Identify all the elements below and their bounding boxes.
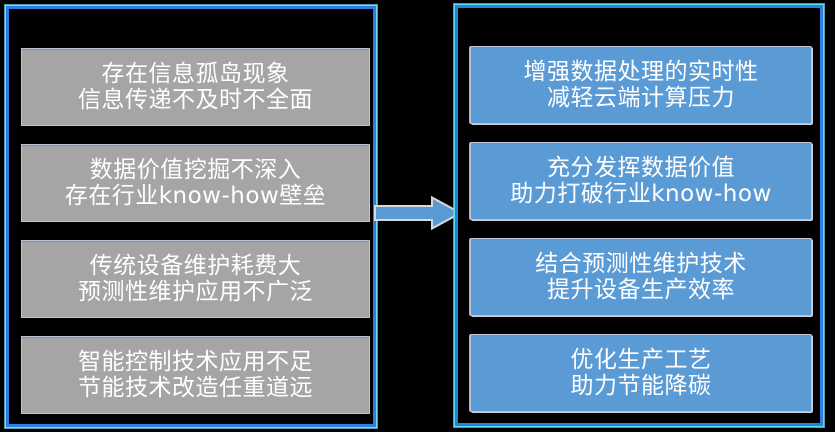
diagram-canvas: 存在信息孤岛现象 信息传递不及时不全面 数据价值挖掘不深入 存在行业know-h… xyxy=(0,0,835,432)
problem-box-3-line-2: 预测性维护应用不广泛 xyxy=(78,279,313,305)
solution-box-2-line-1: 充分发挥数据价值 xyxy=(547,155,735,181)
problem-box-1-line-2: 信息传递不及时不全面 xyxy=(78,87,313,113)
problem-box-2-line-2: 存在行业know-how壁垒 xyxy=(65,183,327,209)
problem-box-2[interactable]: 数据价值挖掘不深入 存在行业know-how壁垒 xyxy=(21,144,370,222)
solution-box-1[interactable]: 增强数据处理的实时性 减轻云端计算压力 xyxy=(470,46,812,124)
solution-box-4-line-1: 优化生产工艺 xyxy=(571,347,712,373)
problem-box-3-line-1: 传统设备维护耗费大 xyxy=(90,253,302,279)
problem-box-4-line-1: 智能控制技术应用不足 xyxy=(78,349,313,375)
solution-box-3-line-1: 结合预测性维护技术 xyxy=(535,251,747,277)
problem-box-4[interactable]: 智能控制技术应用不足 节能技术改造任重道远 xyxy=(21,336,370,414)
solution-box-3-line-2: 提升设备生产效率 xyxy=(547,277,735,303)
problem-box-1[interactable]: 存在信息孤岛现象 信息传递不及时不全面 xyxy=(21,48,370,126)
problem-box-3[interactable]: 传统设备维护耗费大 预测性维护应用不广泛 xyxy=(21,240,370,318)
problem-box-4-line-2: 节能技术改造任重道远 xyxy=(78,375,313,401)
solution-box-2-line-2: 助力打破行业know-how xyxy=(510,181,772,207)
solution-box-1-line-1: 增强数据处理的实时性 xyxy=(524,59,759,85)
problems-box-list: 存在信息孤岛现象 信息传递不及时不全面 数据价值挖掘不深入 存在行业know-h… xyxy=(9,9,373,424)
solution-box-1-line-2: 减轻云端计算压力 xyxy=(547,85,735,111)
solution-box-3[interactable]: 结合预测性维护技术 提升设备生产效率 xyxy=(470,238,812,316)
problem-box-2-line-1: 数据价值挖掘不深入 xyxy=(90,157,302,183)
solutions-panel[interactable]: 增强数据处理的实时性 减轻云端计算压力 充分发挥数据价值 助力打破行业know-… xyxy=(455,5,823,426)
solution-box-4[interactable]: 优化生产工艺 助力节能降碳 xyxy=(470,334,812,412)
problems-panel[interactable]: 存在信息孤岛现象 信息传递不及时不全面 数据价值挖掘不深入 存在行业know-h… xyxy=(6,6,376,427)
solution-box-2[interactable]: 充分发挥数据价值 助力打破行业know-how xyxy=(470,142,812,220)
solution-box-4-line-2: 助力节能降碳 xyxy=(571,373,712,399)
solutions-box-list: 增强数据处理的实时性 减轻云端计算压力 充分发挥数据价值 助力打破行业know-… xyxy=(458,8,820,423)
right-arrow-icon xyxy=(374,196,462,230)
problem-box-1-line-1: 存在信息孤岛现象 xyxy=(102,61,290,87)
